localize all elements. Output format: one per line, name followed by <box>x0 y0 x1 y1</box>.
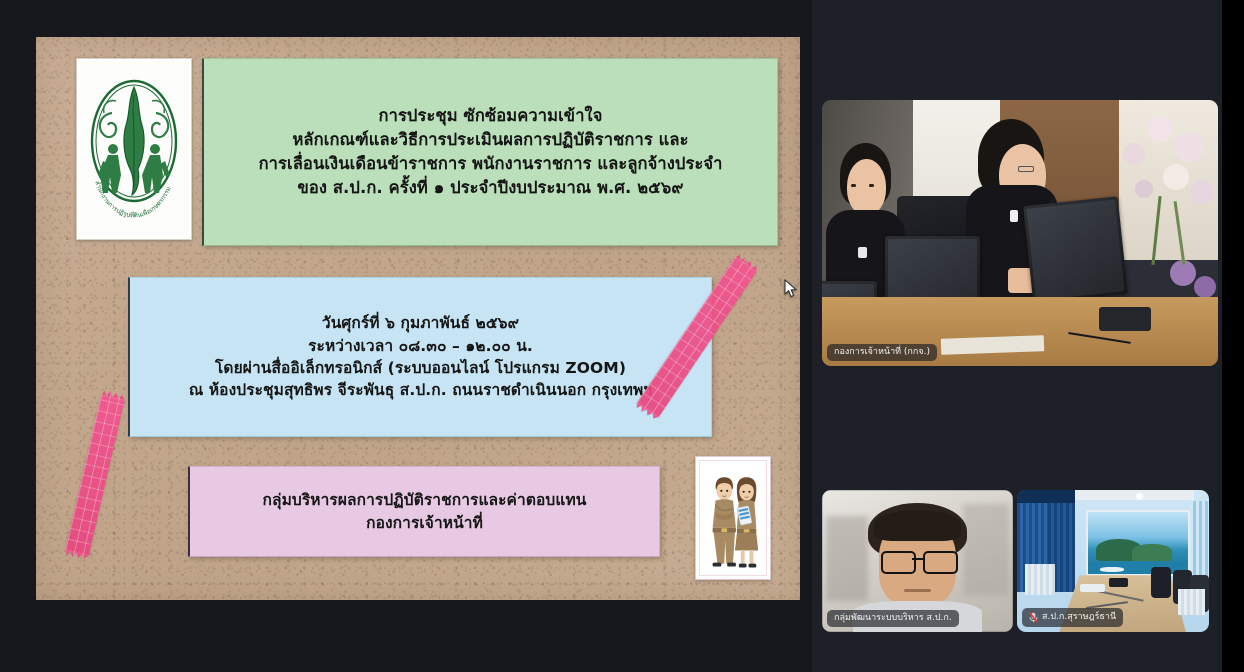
cartoon-officials-card <box>695 456 771 580</box>
video-tile-gonkanjaonathi[interactable]: กองการเจ้าหน้าที่ (กกจ.) <box>822 100 1218 366</box>
participant-name-badge: กองการเจ้าหน้าที่ (กกจ.) <box>827 344 937 361</box>
slide-organizer-box: กลุ่มบริหารผลการปฏิบัติราชการและค่าตอบแท… <box>188 466 660 557</box>
participant-name: กลุ่มพัฒนาระบบบริหาร ส.ป.ก. <box>834 614 952 623</box>
video-tile-klumpattana[interactable]: กลุ่มพัฒนาระบบบริหาร ส.ป.ก. <box>822 490 1013 632</box>
datetime-line-1: วันศุกร์ที่ ๖ กุมภาพันธ์ ๒๕๖๙ <box>322 312 519 334</box>
mouse-pointer-icon <box>784 279 797 298</box>
title-line-4: ของ ส.ป.ก. ครั้งที่ ๑ ประจำปีงบประมาณ พ.… <box>297 176 683 200</box>
title-line-1: การประชุม ซักซ้อมความเข้าใจ <box>379 104 603 128</box>
participant-name-badge: กลุ่มพัฒนาระบบบริหาร ส.ป.ก. <box>827 610 959 627</box>
organizer-line-1: กลุ่มบริหารผลการปฏิบัติราชการและค่าตอบแท… <box>263 489 587 511</box>
shared-slide[interactable]: สำนักงานการปฏิรูปที่ดินเพื่อเกษตรกรรม กา… <box>36 37 800 600</box>
two-officials-illustration-icon <box>700 461 766 575</box>
slide-title-box: การประชุม ซักซ้อมความเข้าใจ หลักเกณฑ์และ… <box>202 58 778 246</box>
title-line-3: การเลื่อนเงินเดือนข้าราชการ พนักงานราชกา… <box>259 152 723 176</box>
datetime-line-2: ระหว่างเวลา ๐๘.๓๐ – ๑๒.๐๐ น. <box>308 335 533 357</box>
datetime-line-4: ณ ห้องประชุมสุทธิพร จีระพันธุ ส.ป.ก. ถนน… <box>189 379 652 401</box>
participant-name: กองการเจ้าหน้าที่ (กกจ.) <box>834 348 930 357</box>
alro-emblem-icon: สำนักงานการปฏิรูปที่ดินเพื่อเกษตรกรรม <box>82 65 186 233</box>
participant-name: ส.ป.ก.สุราษฎร์ธานี <box>1042 613 1116 622</box>
video-scene-meeting-room <box>822 100 1218 366</box>
letterbox-right <box>1222 0 1244 672</box>
title-line-2: หลักเกณฑ์และวิธีการประเมินผลการปฏิบัติรา… <box>292 128 688 152</box>
slide-datetime-box: วันศุกร์ที่ ๖ กุมภาพันธ์ ๒๕๖๙ ระหว่างเวล… <box>128 277 712 437</box>
video-tile-surat-thani[interactable]: ส.ป.ก.สุราษฎร์ธานี <box>1017 490 1209 632</box>
washi-tape-left-icon <box>65 394 124 555</box>
muted-microphone-icon <box>1029 612 1038 623</box>
organizer-line-2: กองการเจ้าหน้าที่ <box>366 512 483 534</box>
datetime-line-3: โดยผ่านสื่ออิเล็กทรอนิกส์ (ระบบออนไลน์ โ… <box>215 357 626 379</box>
alro-logo-card: สำนักงานการปฏิรูปที่ดินเพื่อเกษตรกรรม <box>76 58 192 240</box>
zoom-shared-screen-view: สำนักงานการปฏิรูปที่ดินเพื่อเกษตรกรรม กา… <box>0 0 1244 672</box>
participant-name-badge: ส.ป.ก.สุราษฎร์ธานี <box>1022 608 1123 627</box>
